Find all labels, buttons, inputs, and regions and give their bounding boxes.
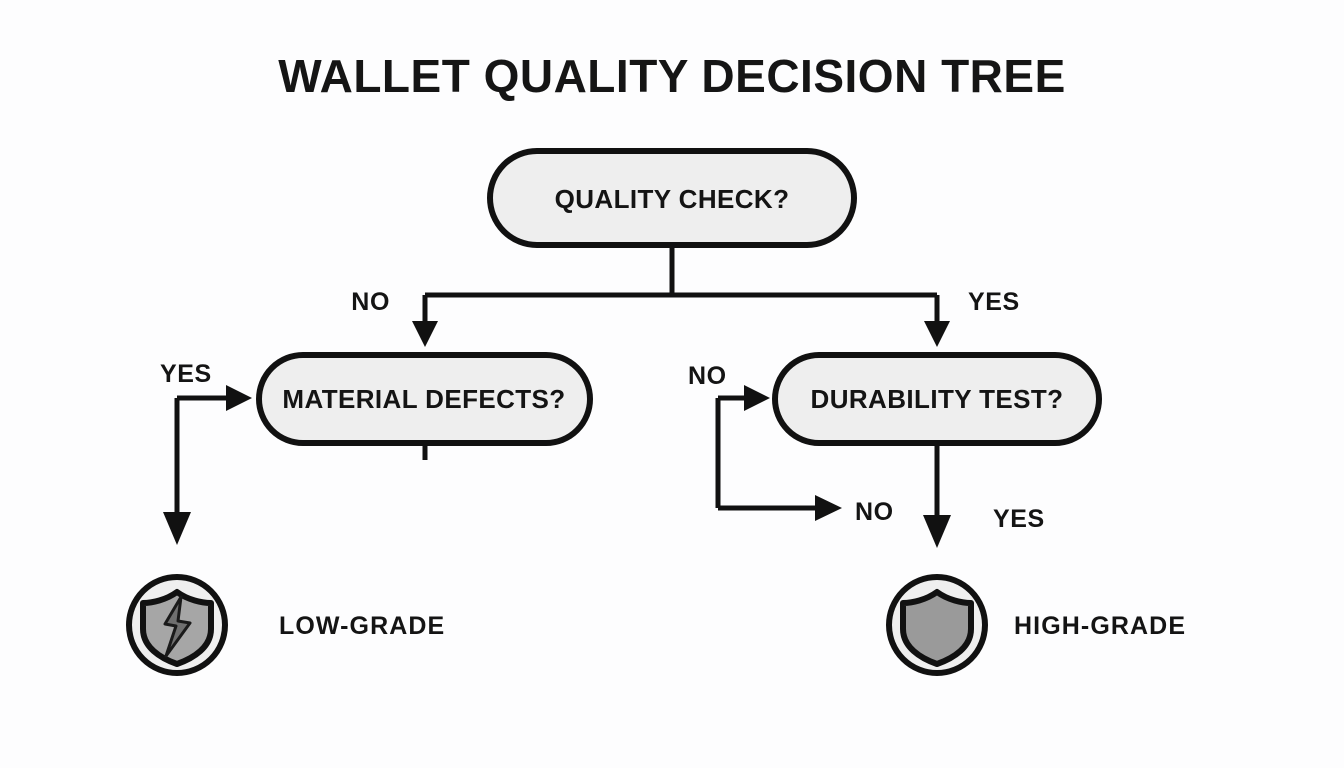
edge-label-root-yes: YES bbox=[968, 288, 1020, 316]
node-material-defects[interactable]: MATERIAL DEFECTS? bbox=[259, 355, 590, 443]
edge-label-right-no-out: NO bbox=[855, 498, 894, 526]
node-material-defects-label: MATERIAL DEFECTS? bbox=[282, 384, 565, 414]
broken-shield-icon bbox=[143, 592, 211, 664]
shield-icon bbox=[903, 592, 971, 664]
node-quality-check-label: QUALITY CHECK? bbox=[555, 184, 790, 214]
node-durability-test-label: DURABILITY TEST? bbox=[811, 384, 1064, 414]
edge-right-no-out-arrowhead bbox=[815, 495, 842, 521]
page-title: WALLET QUALITY DECISION TREE bbox=[278, 50, 1066, 102]
edge-right-no-in-arrowhead bbox=[744, 385, 770, 411]
node-quality-check[interactable]: QUALITY CHECK? bbox=[490, 151, 854, 245]
edge-label-right-no-in: NO bbox=[688, 362, 727, 390]
node-durability-test[interactable]: DURABILITY TEST? bbox=[775, 355, 1099, 443]
outcome-low-grade[interactable]: LOW-GRADE bbox=[129, 577, 445, 673]
outcome-high-grade[interactable]: HIGH-GRADE bbox=[889, 577, 1186, 673]
edge-left-yes-arrowhead bbox=[226, 385, 252, 411]
edge-left-down-arrowhead bbox=[163, 512, 191, 545]
outcome-low-grade-label: LOW-GRADE bbox=[279, 612, 445, 640]
edge-label-root-no: NO bbox=[351, 288, 390, 316]
decision-tree-diagram: WALLET QUALITY DECISION TREE NO YES YES … bbox=[0, 0, 1344, 768]
edge-root-no-arrowhead bbox=[412, 321, 438, 347]
edge-label-right-yes: YES bbox=[993, 505, 1045, 533]
diagram-canvas: WALLET QUALITY DECISION TREE NO YES YES … bbox=[0, 0, 1344, 768]
edge-right-yes-arrowhead bbox=[923, 515, 951, 548]
edge-root-yes-arrowhead bbox=[924, 321, 950, 347]
outcome-high-grade-label: HIGH-GRADE bbox=[1014, 612, 1186, 640]
edge-label-left-yes: YES bbox=[160, 360, 212, 388]
